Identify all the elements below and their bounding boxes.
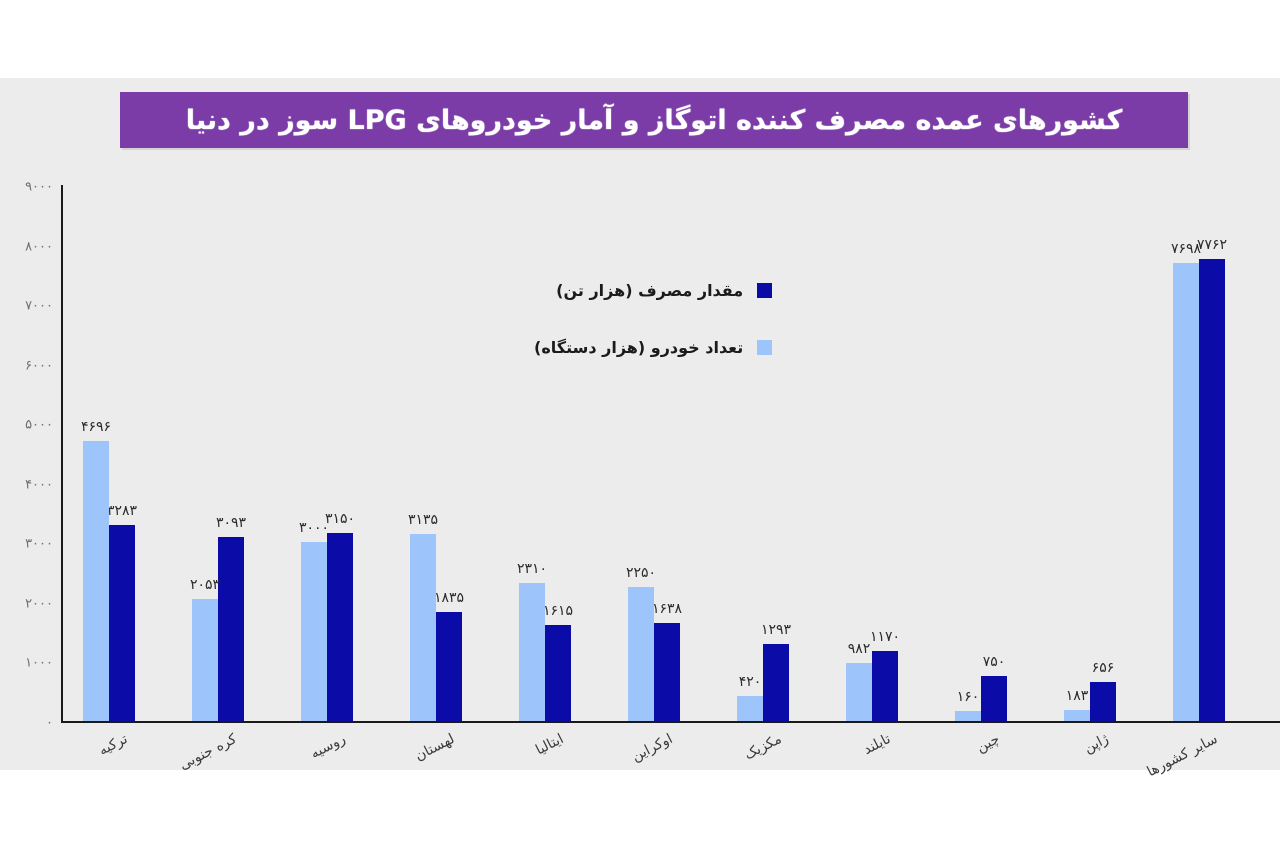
bar-group: ۱۸۳۵۳۱۳۵ xyxy=(410,185,462,721)
bar[interactable] xyxy=(872,651,898,721)
bar-column[interactable]: ۱۸۳۵ xyxy=(436,185,462,721)
bar-column[interactable]: ۴۶۹۶ xyxy=(83,185,109,721)
bar[interactable] xyxy=(955,711,981,721)
bar-value-label: ۳۰۹۳ xyxy=(216,515,246,531)
bar[interactable] xyxy=(654,623,680,721)
bar-column[interactable]: ۱۶۰ xyxy=(955,185,981,721)
bar[interactable] xyxy=(628,587,654,721)
bar-column[interactable]: ۴۲۰ xyxy=(737,185,763,721)
bar-column[interactable]: ۳۱۳۵ xyxy=(410,185,436,721)
bar-group: ۷۷۶۲۷۶۹۸ xyxy=(1173,185,1225,721)
bar-column[interactable]: ۲۳۱۰ xyxy=(519,185,545,721)
bar[interactable] xyxy=(519,583,545,721)
bar-value-label: ۲۳۱۰ xyxy=(517,561,547,577)
y-axis-tick-label: ۶۰۰۰ xyxy=(25,358,53,373)
bar-value-label: ۱۶۰ xyxy=(957,689,980,705)
legend-swatch-icon xyxy=(757,283,772,298)
bar-column[interactable]: ۳۰۰۰ xyxy=(301,185,327,721)
bar-value-label: ۴۲۰ xyxy=(739,674,762,690)
bar[interactable] xyxy=(192,599,218,721)
bar-column[interactable]: ۱۶۱۵ xyxy=(545,185,571,721)
y-axis-tick-label: ۴۰۰۰ xyxy=(25,477,53,492)
bar[interactable] xyxy=(1064,710,1090,721)
y-axis-tick-label: ۸۰۰۰ xyxy=(25,239,53,254)
bar-value-label: ۳۰۰۰ xyxy=(299,520,329,536)
bar-value-label: ۱۲۹۳ xyxy=(761,622,791,638)
legend-label: تعداد خودرو (هزار دستگاه) xyxy=(534,338,743,357)
bar-column[interactable]: ۷۵۰ xyxy=(981,185,1007,721)
bar-column[interactable]: ۷۷۶۲ xyxy=(1199,185,1225,721)
bar-value-label: ۱۸۳۵ xyxy=(434,590,464,606)
bar-column[interactable]: ۳۱۵۰ xyxy=(327,185,353,721)
chart-page: کشورهای عمده مصرف کننده اتوگاز و آمار خو… xyxy=(0,0,1280,853)
legend-item[interactable]: مقدار مصرف (هزار تن) xyxy=(534,281,772,300)
bar-group: ۱۲۹۳۴۲۰ xyxy=(737,185,789,721)
bar-value-label: ۶۵۶ xyxy=(1092,660,1115,676)
bar-value-label: ۷۶۹۸ xyxy=(1171,241,1201,257)
bar[interactable] xyxy=(1199,259,1225,721)
y-axis-tick-label: ۷۰۰۰ xyxy=(25,299,53,314)
bar-column[interactable]: ۱۸۳ xyxy=(1064,185,1090,721)
bar-column[interactable]: ۲۲۵۰ xyxy=(628,185,654,721)
bar-value-label: ۳۱۵۰ xyxy=(325,511,355,527)
bar-value-label: ۴۶۹۶ xyxy=(81,419,111,435)
bar[interactable] xyxy=(1090,682,1116,721)
y-axis-tick-label: ۹۰۰۰ xyxy=(25,180,53,195)
bar-group: ۷۵۰۱۶۰ xyxy=(955,185,1007,721)
bar-group: ۳۲۸۳۴۶۹۶ xyxy=(83,185,135,721)
bar-group: ۱۶۳۸۲۲۵۰ xyxy=(628,185,680,721)
bar-value-label: ۷۵۰ xyxy=(983,654,1006,670)
chart-legend: مقدار مصرف (هزار تن)تعداد خودرو (هزار دس… xyxy=(534,281,772,395)
bar-value-label: ۷۷۶۲ xyxy=(1197,237,1227,253)
bar-value-label: ۲۲۵۰ xyxy=(626,565,656,581)
y-axis-line xyxy=(61,185,63,723)
y-axis-tick-label: ۱۰۰۰ xyxy=(25,656,53,671)
bar-group: ۶۵۶۱۸۳ xyxy=(1064,185,1116,721)
bar-value-label: ۳۲۸۳ xyxy=(107,503,137,519)
y-axis-tick-label: ۳۰۰۰ xyxy=(25,537,53,552)
bar-group: ۳۰۹۳۲۰۵۳ xyxy=(192,185,244,721)
bar[interactable] xyxy=(109,525,135,721)
bar-column[interactable]: ۳۰۹۳ xyxy=(218,185,244,721)
bar[interactable] xyxy=(218,537,244,721)
bar[interactable] xyxy=(1173,263,1199,721)
bar-group: ۳۱۵۰۳۰۰۰ xyxy=(301,185,353,721)
bar[interactable] xyxy=(301,542,327,721)
bar-value-label: ۱۶۳۸ xyxy=(652,601,682,617)
bar-column[interactable]: ۳۲۸۳ xyxy=(109,185,135,721)
bar-value-label: ۱۶۱۵ xyxy=(543,603,573,619)
bar-value-label: ۹۸۲ xyxy=(848,641,871,657)
x-axis-line xyxy=(61,721,1280,723)
bar-column[interactable]: ۹۸۲ xyxy=(846,185,872,721)
bar-group: ۱۱۷۰۹۸۲ xyxy=(846,185,898,721)
y-axis-tick-label: ۵۰۰۰ xyxy=(25,418,53,433)
bar[interactable] xyxy=(83,441,109,721)
bar[interactable] xyxy=(327,533,353,721)
bar-value-label: ۳۱۳۵ xyxy=(408,512,438,528)
bar-value-label: ۲۰۵۳ xyxy=(190,577,220,593)
y-axis-tick-label: ۲۰۰۰ xyxy=(25,596,53,611)
bar-value-label: ۱۸۳ xyxy=(1066,688,1089,704)
bar[interactable] xyxy=(737,696,763,721)
bar-group: ۱۶۱۵۲۳۱۰ xyxy=(519,185,571,721)
bar-column[interactable]: ۲۰۵۳ xyxy=(192,185,218,721)
bar-column[interactable]: ۷۶۹۸ xyxy=(1173,185,1199,721)
bar-column[interactable]: ۱۶۳۸ xyxy=(654,185,680,721)
y-axis-tick-label: ۰ xyxy=(46,716,53,731)
legend-item[interactable]: تعداد خودرو (هزار دستگاه) xyxy=(534,338,772,357)
bar-value-label: ۱۱۷۰ xyxy=(870,629,900,645)
bar[interactable] xyxy=(981,676,1007,721)
plot-area: ۰۱۰۰۰۲۰۰۰۳۰۰۰۴۰۰۰۵۰۰۰۶۰۰۰۷۰۰۰۸۰۰۰۹۰۰۰ ۳۲… xyxy=(61,185,1280,723)
bar[interactable] xyxy=(846,663,872,721)
bar-column[interactable]: ۶۵۶ xyxy=(1090,185,1116,721)
bar[interactable] xyxy=(763,644,789,721)
bar[interactable] xyxy=(436,612,462,721)
legend-label: مقدار مصرف (هزار تن) xyxy=(556,281,743,300)
bar-column[interactable]: ۱۱۷۰ xyxy=(872,185,898,721)
legend-swatch-icon xyxy=(757,340,772,355)
chart-title-banner: کشورهای عمده مصرف کننده اتوگاز و آمار خو… xyxy=(120,92,1188,148)
bar-column[interactable]: ۱۲۹۳ xyxy=(763,185,789,721)
page-title: کشورهای عمده مصرف کننده اتوگاز و آمار خو… xyxy=(186,105,1123,136)
bar[interactable] xyxy=(410,534,436,721)
bar[interactable] xyxy=(545,625,571,721)
